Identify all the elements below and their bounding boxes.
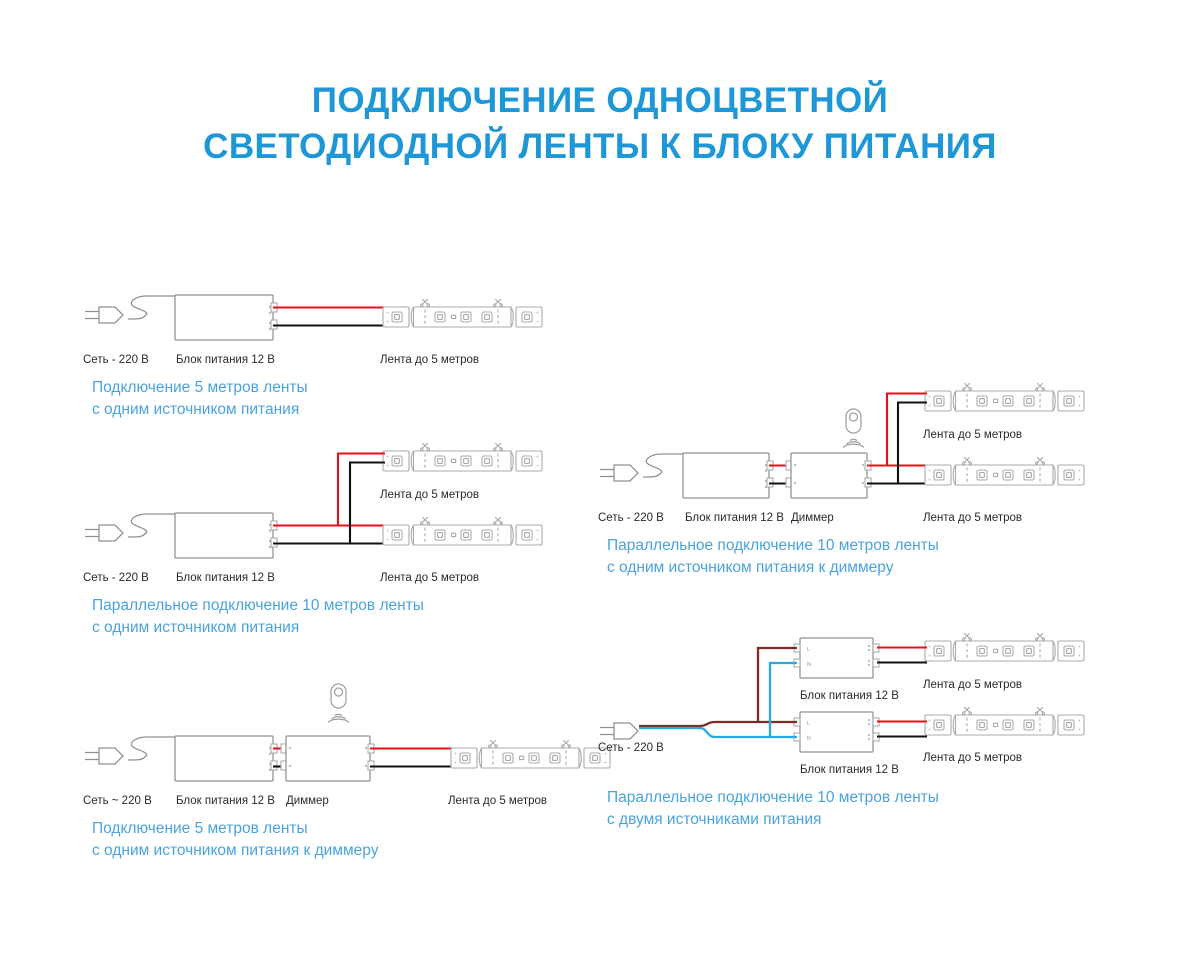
diagram-4-caption-line-2: с одним источником питания к диммеру — [607, 557, 939, 579]
led-strip-top-icon — [383, 443, 542, 471]
diagram-3-label-strip: Лента до 5 метров — [448, 796, 547, 808]
diagram-2-caption: Параллельное подключение 10 метров ленты… — [92, 595, 424, 640]
led-strip-top-icon — [925, 633, 1084, 661]
mains-plug-icon — [85, 748, 123, 764]
diagram-1-caption-line-1: Подключение 5 метров ленты — [92, 377, 308, 399]
diagram-5-caption: Параллельное подключение 10 метров ленты… — [607, 787, 939, 832]
diagram-3-label-psu: Блок питания 12 В — [176, 796, 275, 808]
diagram-2: Лента до 5 метров Сеть - 220 В Блок пита… — [80, 435, 590, 620]
diagram-3-schematic — [80, 680, 600, 790]
infographic-page: ПОДКЛЮЧЕНИЕ ОДНОЦВЕТНОЙ СВЕТОДИОДНОЙ ЛЕН… — [0, 0, 1200, 960]
wire-negative-branch-top — [350, 463, 385, 544]
psu-body — [175, 513, 273, 558]
diagram-3-label-mains: Сеть ~ 220 В — [83, 796, 152, 808]
diagram-4-label-mains: Сеть - 220 В — [598, 513, 664, 525]
dimmer-body — [791, 453, 867, 498]
page-title-line-1: ПОДКЛЮЧЕНИЕ ОДНОЦВЕТНОЙ — [0, 78, 1200, 124]
diagram-5-caption-line-1: Параллельное подключение 10 метров ленты — [607, 787, 939, 809]
diagram-2-label-strip-top: Лента до 5 метров — [380, 490, 479, 502]
wire-positive-branch-top — [338, 454, 385, 526]
diagram-4-label-strip-top: Лента до 5 метров — [923, 430, 1022, 442]
wire-neutral-trunk — [639, 728, 797, 737]
diagram-4-label-psu: Блок питания 12 В — [685, 513, 784, 525]
diagram-2-schematic — [80, 435, 590, 565]
mains-plug-icon — [85, 525, 123, 541]
psu-top-body — [800, 638, 873, 678]
diagram-1: Сеть - 220 В Блок питания 12 В Лента до … — [80, 285, 590, 400]
mains-plug-icon — [600, 723, 638, 739]
diagram-4-caption: Параллельное подключение 10 метров ленты… — [607, 535, 939, 580]
diagram-3-label-dimmer: Диммер — [286, 796, 329, 808]
mains-plug-icon — [85, 307, 123, 323]
page-title-line-2: СВЕТОДИОДНОЙ ЛЕНТЫ К БЛОКУ ПИТАНИЯ — [0, 124, 1200, 170]
diagram-5: L N L N — [595, 625, 1105, 810]
led-strip-bottom-icon — [925, 457, 1084, 485]
led-strip-bottom-icon — [925, 707, 1084, 735]
diagram-2-label-mains: Сеть - 220 В — [83, 573, 149, 585]
diagram-1-label-psu: Блок питания 12 В — [176, 355, 275, 367]
psu-bottom-body — [800, 712, 873, 752]
diagram-5-label-mains: Сеть - 220 В — [598, 743, 664, 755]
psu-bottom-terminal-neutral-label: N — [807, 736, 811, 742]
led-strip-bottom-icon — [383, 517, 542, 545]
diagram-4-label-strip-bottom: Лента до 5 метров — [923, 513, 1022, 525]
psu-body — [683, 453, 769, 498]
diagram-4-label-dimmer: Диммер — [791, 513, 834, 525]
dimmer-body — [286, 736, 370, 781]
diagram-5-label-strip-top: Лента до 5 метров — [923, 680, 1022, 692]
diagram-3: Сеть ~ 220 В Блок питания 12 В Диммер Ле… — [80, 680, 600, 835]
diagram-5-label-strip-bottom: Лента до 5 метров — [923, 753, 1022, 765]
diagram-1-label-strip: Лента до 5 метров — [380, 355, 479, 367]
diagram-3-caption-line-2: с одним источником питания к диммеру — [92, 840, 378, 862]
diagram-5-label-psu-bottom: Блок питания 12 В — [800, 765, 899, 777]
diagram-1-schematic — [80, 285, 590, 347]
diagram-3-caption: Подключение 5 метров ленты с одним источ… — [92, 818, 378, 863]
led-strip-icon — [451, 740, 610, 768]
led-strip-icon — [383, 299, 542, 327]
diagram-2-caption-line-2: с одним источником питания — [92, 617, 424, 639]
remote-control-icon — [843, 409, 864, 448]
wire-positive-branch-top — [887, 394, 927, 466]
diagram-3-caption-line-1: Подключение 5 метров ленты — [92, 818, 378, 840]
mains-plug-icon — [600, 465, 638, 481]
diagram-2-label-psu: Блок питания 12 В — [176, 573, 275, 585]
wire-live-branch-top — [758, 648, 797, 722]
led-strip-top-icon — [925, 383, 1084, 411]
diagram-1-caption: Подключение 5 метров ленты с одним источ… — [92, 377, 308, 422]
diagram-4-schematic — [595, 375, 1105, 505]
psu-body — [175, 736, 273, 781]
diagram-5-caption-line-2: с двумя источниками питания — [607, 809, 939, 831]
diagram-1-caption-line-2: с одним источником питания — [92, 399, 308, 421]
diagram-1-label-mains: Сеть - 220 В — [83, 355, 149, 367]
psu-top-terminal-live-label: L — [807, 647, 810, 653]
diagram-4-caption-line-1: Параллельное подключение 10 метров ленты — [607, 535, 939, 557]
diagram-4: Лента до 5 метров Сеть - 220 В Блок пита… — [595, 375, 1105, 560]
wire-negative-branch-top — [898, 403, 927, 484]
psu-body — [175, 295, 273, 340]
wire-live-trunk — [639, 722, 797, 726]
psu-top-terminal-neutral-label: N — [807, 662, 811, 668]
diagram-2-label-strip-bottom: Лента до 5 метров — [380, 573, 479, 585]
wire-neutral-branch-top — [770, 663, 797, 737]
diagram-5-label-psu-top: Блок питания 12 В — [800, 691, 899, 703]
diagram-2-caption-line-1: Параллельное подключение 10 метров ленты — [92, 595, 424, 617]
psu-bottom-terminal-live-label: L — [807, 721, 810, 727]
page-title: ПОДКЛЮЧЕНИЕ ОДНОЦВЕТНОЙ СВЕТОДИОДНОЙ ЛЕН… — [0, 78, 1200, 170]
remote-control-icon — [328, 684, 349, 723]
